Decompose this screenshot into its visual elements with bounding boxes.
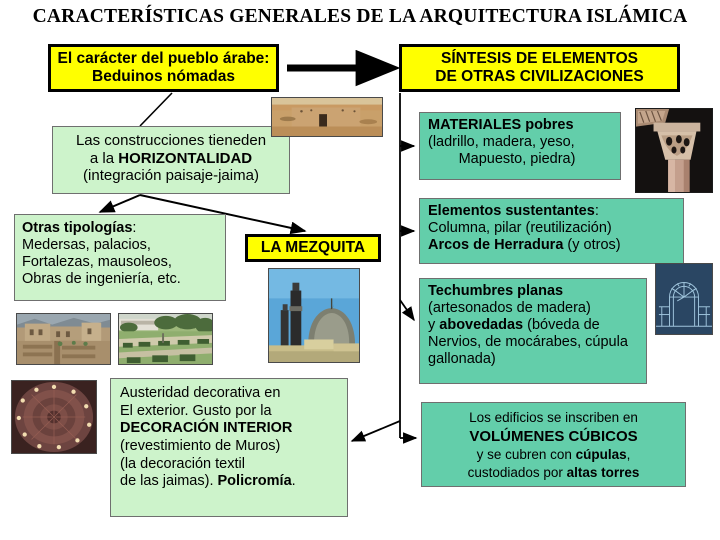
box-volumenes-text-4a: custodiados por (468, 465, 567, 480)
box-volumenes-line-1: Los edificios se inscriben en (422, 409, 685, 427)
box-volumenes-line-2: VOLÚMENES CÚBICOS (422, 427, 685, 447)
box-caracter-line-2: Beduinos nómadas (92, 68, 235, 86)
box-austeridad-line-4: (revestimiento de Muros) (120, 438, 347, 456)
box-techumbres-planas[interactable]: Techumbres planas (artesonados de madera… (419, 278, 647, 384)
box-horizontalidad-line-1: Las construcciones tieneden (57, 132, 285, 150)
box-volumenes-heading: VOLÚMENES CÚBICOS (469, 428, 637, 445)
islamic-garden-courtyard-photo (118, 313, 213, 365)
box-sustentantes-line-1: Elementos sustentantes: (428, 203, 683, 220)
box-techumbres-abovedadas: abovedadas (439, 317, 523, 333)
box-volumenes-text-3c: , (627, 447, 631, 462)
box-austeridad-decorativa[interactable]: Austeridad decorativa en El exterior. Gu… (110, 378, 348, 517)
box-materiales-line-2: (ladrillo, madera, yeso, (428, 134, 620, 151)
box-caracter-line-1: El carácter del pueblo árabe: (58, 50, 270, 68)
box-techumbres-line-4: Nervios, de mocárabes, cúpula (428, 334, 646, 351)
muqarnas-dome-interior-photo (11, 380, 97, 454)
box-volumenes-line-3: y se cubren con cúpulas, (422, 446, 685, 464)
box-horizontalidad-text-3: (integración paisaje-jaima) (83, 167, 259, 184)
box-tipologias-line-4: Obras de ingeniería, etc. (22, 271, 225, 288)
box-techumbres-line-5: gallonada) (428, 351, 646, 368)
box-horizontalidad-line-3: (integración paisaje-jaima) (57, 167, 285, 185)
box-volumenes-text-3a: y se cubren con (477, 447, 576, 462)
box-austeridad-text-6c: . (292, 473, 296, 489)
box-la-mezquita[interactable]: LA MEZQUITA (245, 234, 381, 262)
box-sustentantes-line-2: Columna, pilar (reutilización) (428, 220, 683, 237)
box-volumenes-altas-torres: altas torres (567, 465, 640, 480)
box-materiales-pobres[interactable]: MATERIALES pobres (ladrillo, madera, yes… (419, 112, 621, 180)
box-materiales-heading: MATERIALES (428, 117, 521, 133)
box-elementos-sustentantes[interactable]: Elementos sustentantes: Columna, pilar (… (419, 198, 684, 264)
page-title: CARACTERÍSTICAS GENERALES DE LA ARQUITEC… (0, 6, 720, 28)
box-horizontalidad-text-2a: a la (90, 150, 118, 167)
box-sustentantes-colon: : (595, 203, 599, 219)
box-horizontalidad-line-2: a la HORIZONTALIDAD (57, 150, 285, 168)
box-sustentantes-text-3a: (y otros) (563, 237, 620, 253)
box-austeridad-policromia: Policromía (218, 473, 292, 489)
box-techumbres-line-2: (artesonados de madera) (428, 300, 646, 317)
box-horizontalidad-text-1: Las construcciones tieneden (76, 132, 266, 149)
box-austeridad-line-6: de las jaimas). Policromía. (120, 473, 347, 491)
box-volumenes-cubicos[interactable]: Los edificios se inscriben en VOLÚMENES … (421, 402, 686, 487)
mosque-dome-minarets-photo (268, 268, 360, 363)
box-techumbres-line-3: y abovedadas (bóveda de (428, 317, 646, 334)
box-materiales-heading-suffix: pobres (521, 117, 573, 133)
box-austeridad-line-1: Austeridad decorativa en (120, 385, 347, 403)
box-techumbres-text-3c: (bóveda de (523, 317, 600, 333)
box-volumenes-line-4: custodiados por altas torres (422, 464, 685, 482)
box-volumenes-cupulas: cúpulas (576, 447, 627, 462)
desert-adobe-village-photo (271, 97, 383, 137)
box-tipologias-line-2: Medersas, palacios, (22, 237, 225, 254)
box-tipologias-heading: Otras tipologías (22, 220, 132, 236)
box-austeridad-line-5: (la decoración textil (120, 456, 347, 474)
carved-column-capital-photo (635, 108, 713, 193)
box-sintesis-line-2: DE OTRAS CIVILIZACIONES (435, 68, 643, 86)
box-austeridad-line-2: El exterior. Gusto por la (120, 403, 347, 421)
box-otras-tipologias[interactable]: Otras tipologías: Medersas, palacios, Fo… (14, 214, 226, 301)
box-materiales-line-1: MATERIALES pobres (428, 117, 620, 134)
box-tipologias-colon: : (132, 220, 136, 236)
box-techumbres-line-1: Techumbres planas (428, 283, 646, 300)
fortress-alcazaba-ruins-photo (16, 313, 111, 365)
box-materiales-line-3: Mapuesto, piedra) (428, 151, 620, 168)
box-sustentantes-arcos: Arcos de Herradura (428, 237, 563, 253)
box-tipologias-line-1: Otras tipologías: (22, 220, 225, 237)
box-tipologias-line-3: Fortalezas, mausoleos, (22, 254, 225, 271)
box-techumbres-heading: Techumbres planas (428, 283, 563, 299)
box-horizontalidad-text-2b: HORIZONTALIDAD (118, 150, 252, 167)
box-austeridad-text-6a: de las jaimas). (120, 473, 218, 489)
box-caracter-pueblo-arabe[interactable]: El carácter del pueblo árabe: Beduinos n… (48, 44, 279, 92)
box-horizontalidad[interactable]: Las construcciones tieneden a la HORIZON… (52, 126, 290, 194)
diagram-canvas: CARACTERÍSTICAS GENERALES DE LA ARQUITEC… (0, 0, 720, 540)
box-sustentantes-line-3: Arcos de Herradura (y otros) (428, 237, 683, 254)
horseshoe-arch-blueprint-diagram (655, 263, 713, 335)
box-austeridad-line-3: DECORACIÓN INTERIOR (120, 420, 347, 438)
box-mezquita-label: LA MEZQUITA (261, 239, 365, 257)
box-techumbres-text-3a: y (428, 317, 439, 333)
box-sintesis-elementos[interactable]: SÍNTESIS DE ELEMENTOS DE OTRAS CIVILIZAC… (399, 44, 680, 92)
box-sustentantes-heading: Elementos sustentantes (428, 203, 595, 219)
box-sintesis-line-1: SÍNTESIS DE ELEMENTOS (441, 50, 638, 68)
box-austeridad-decoracion-interior: DECORACIÓN INTERIOR (120, 420, 292, 436)
